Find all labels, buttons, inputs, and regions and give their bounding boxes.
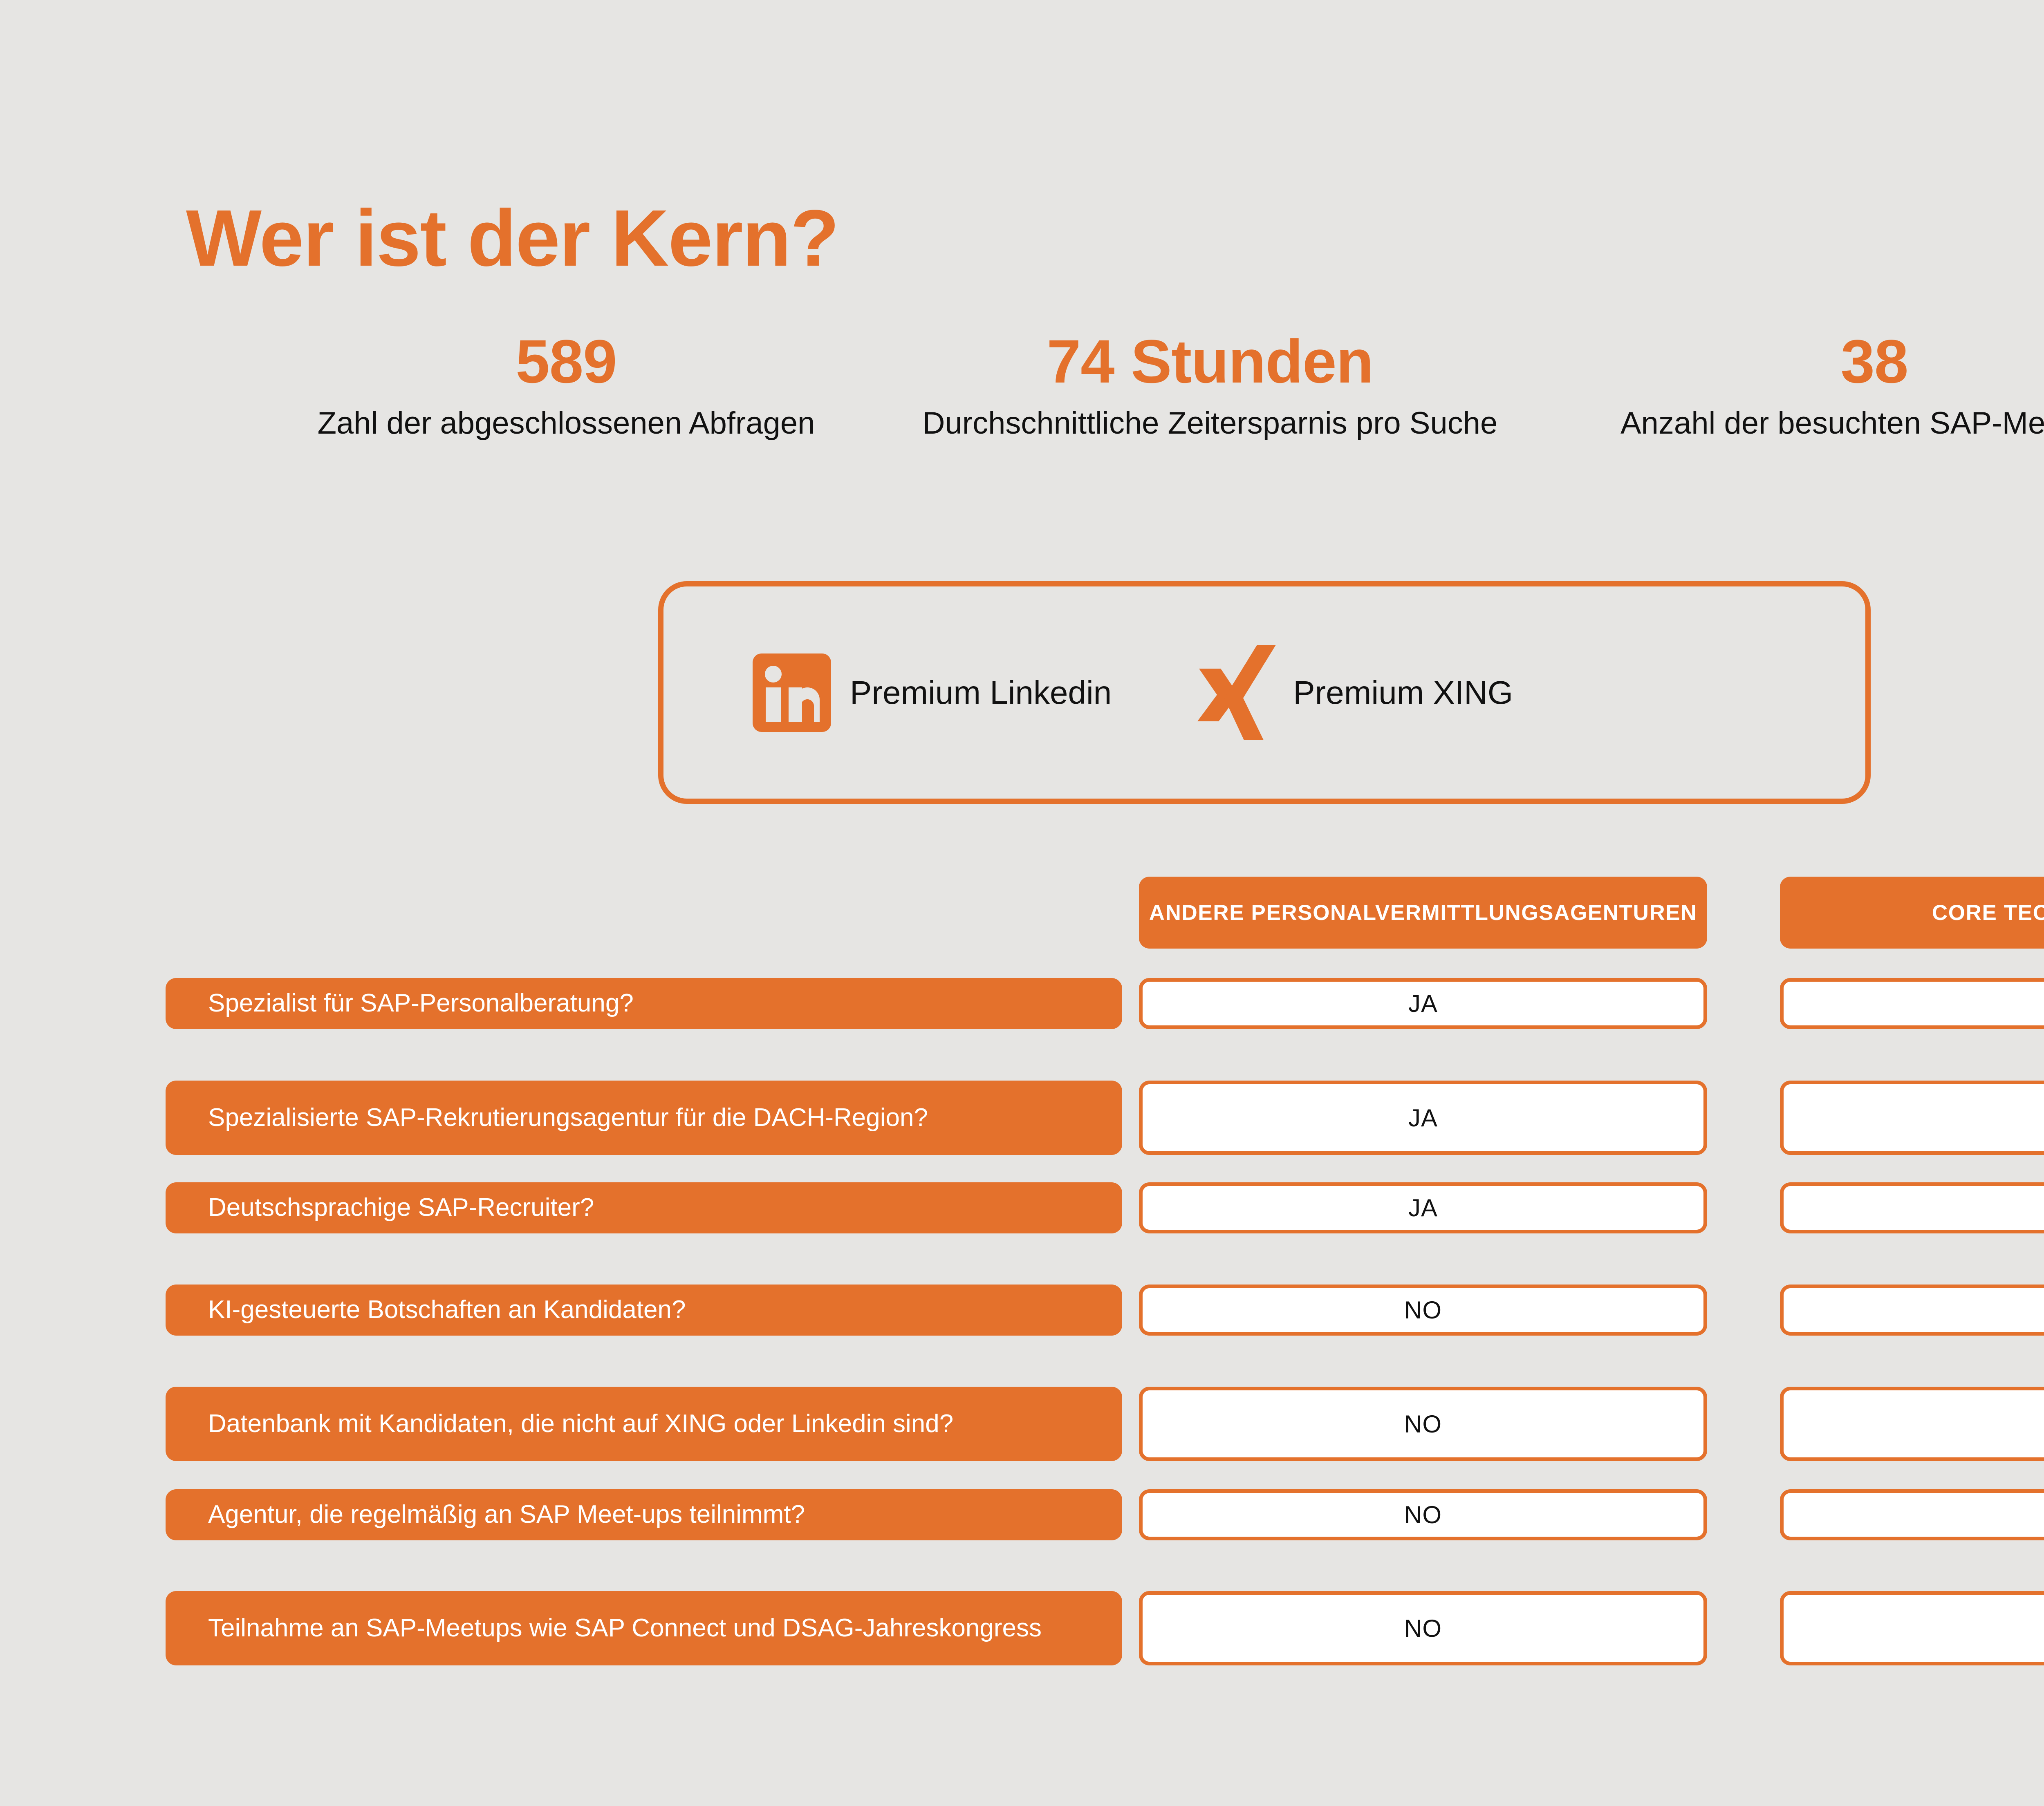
column-header-other-agencies: ANDERE PERSONALVERMITTLUNGSAGENTUREN bbox=[1139, 877, 1707, 949]
question-label: Agentur, die regelmäßig an SAP Meet-ups … bbox=[208, 1498, 805, 1531]
table-row-answer-core: JA bbox=[1780, 1285, 2044, 1336]
stat-card-sap-meetings: 38 Anzahl der besuchten SAP-Meetings bbox=[1558, 327, 2044, 443]
column-header-label: CORE TECH RECRUITMENT bbox=[1932, 900, 2044, 925]
premium-accounts-box: Premium Linkedin Premium XING bbox=[658, 581, 1871, 804]
table-row-question: Agentur, die regelmäßig an SAP Meet-ups … bbox=[166, 1489, 1122, 1540]
table-row-answer-core: JA bbox=[1780, 1387, 2044, 1461]
table-row-answer-other: NO bbox=[1139, 1591, 1707, 1665]
question-label: Spezialisierte SAP-Rekrutierungsagentur … bbox=[208, 1101, 928, 1135]
stats-row: 589 Zahl der abgeschlossenen Abfragen 74… bbox=[270, 327, 2044, 443]
table-row-answer-other: NO bbox=[1139, 1489, 1707, 1540]
stat-card-time-saved: 74 Stunden Durchschnittliche Zeitersparn… bbox=[863, 327, 1558, 443]
page-title: Wer ist der Kern? bbox=[186, 196, 838, 280]
table-row-answer-other: NO bbox=[1139, 1285, 1707, 1336]
question-label: Spezialist für SAP-Personalberatung? bbox=[208, 987, 634, 1020]
table-row-answer-core: JA bbox=[1780, 1489, 2044, 1540]
question-label: KI-gesteuerte Botschaften an Kandidaten? bbox=[208, 1294, 686, 1327]
table-row-answer-other: JA bbox=[1139, 978, 1707, 1029]
question-label: Deutschsprachige SAP-Recruiter? bbox=[208, 1191, 594, 1224]
table-row-question: KI-gesteuerte Botschaften an Kandidaten? bbox=[166, 1285, 1122, 1336]
table-row-answer-core: JA bbox=[1780, 1081, 2044, 1155]
table-row-answer-core: JA bbox=[1780, 1182, 2044, 1233]
answer-value: NO bbox=[1404, 1501, 1442, 1529]
column-header-core-tech: CORE TECH RECRUITMENT bbox=[1780, 877, 2044, 949]
column-header-label: ANDERE PERSONALVERMITTLUNGSAGENTUREN bbox=[1149, 900, 1697, 925]
answer-value: JA bbox=[1408, 1104, 1438, 1132]
answer-value: JA bbox=[1408, 1194, 1438, 1222]
stat-value: 38 bbox=[1841, 327, 1908, 396]
stat-card-completed-queries: 589 Zahl der abgeschlossenen Abfragen bbox=[270, 327, 863, 443]
xing-icon bbox=[1195, 642, 1277, 743]
linkedin-icon bbox=[753, 653, 831, 732]
badge-premium-linkedin: Premium Linkedin bbox=[753, 653, 1112, 732]
table-row-question: Spezialist für SAP-Personalberatung? bbox=[166, 978, 1122, 1029]
table-row-answer-other: JA bbox=[1139, 1182, 1707, 1233]
badge-label: Premium XING bbox=[1293, 674, 1513, 712]
table-row-answer-core: JA bbox=[1780, 978, 2044, 1029]
table-row-question: Deutschsprachige SAP-Recruiter? bbox=[166, 1182, 1122, 1233]
stat-value: 589 bbox=[515, 327, 616, 396]
table-row-answer-other: JA bbox=[1139, 1081, 1707, 1155]
answer-value: NO bbox=[1404, 1614, 1442, 1643]
answer-value: JA bbox=[1408, 989, 1438, 1018]
table-row-answer-other: NO bbox=[1139, 1387, 1707, 1461]
question-label: Teilnahme an SAP-Meetups wie SAP Connect… bbox=[208, 1612, 1042, 1645]
stat-label: Anzahl der besuchten SAP-Meetings bbox=[1620, 405, 2044, 443]
table-row-question: Spezialisierte SAP-Rekrutierungsagentur … bbox=[166, 1081, 1122, 1155]
table-row-question: Datenbank mit Kandidaten, die nicht auf … bbox=[166, 1387, 1122, 1461]
table-row-question: Teilnahme an SAP-Meetups wie SAP Connect… bbox=[166, 1591, 1122, 1665]
badge-label: Premium Linkedin bbox=[850, 674, 1112, 712]
table-row-answer-core: JA bbox=[1780, 1591, 2044, 1665]
stat-value: 74 Stunden bbox=[1047, 327, 1373, 396]
stat-label: Durchschnittliche Zeitersparnis pro Such… bbox=[923, 405, 1498, 443]
stat-label: Zahl der abgeschlossenen Abfragen bbox=[318, 405, 815, 443]
badge-premium-xing: Premium XING bbox=[1195, 642, 1513, 743]
infographic-page: Wer ist der Kern? 589 Zahl der abgeschlo… bbox=[0, 0, 2044, 1806]
question-label: Datenbank mit Kandidaten, die nicht auf … bbox=[208, 1408, 953, 1441]
answer-value: NO bbox=[1404, 1410, 1442, 1438]
answer-value: NO bbox=[1404, 1296, 1442, 1324]
